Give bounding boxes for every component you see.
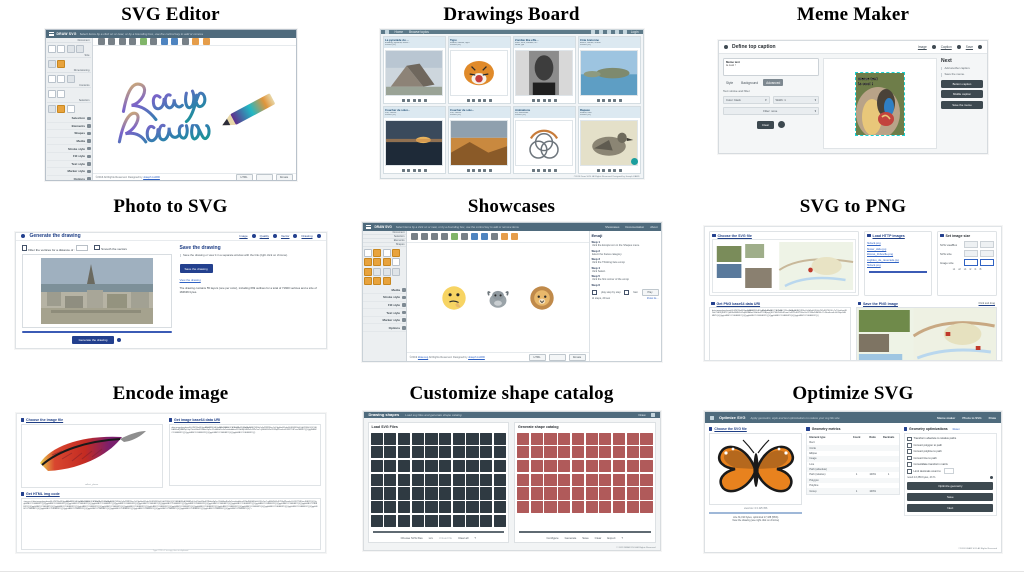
menu-item-media[interactable]: Media bbox=[47, 138, 91, 146]
shape-icon[interactable] bbox=[494, 446, 506, 458]
pts-steps[interactable]: Image Quality Vector Drawing bbox=[239, 234, 320, 238]
optimization-options[interactable]: Transform absolute to relative paths Con… bbox=[904, 433, 997, 516]
step-caption[interactable]: Caption bbox=[941, 45, 952, 49]
shape-icon[interactable] bbox=[392, 249, 400, 257]
editor-menu[interactable]: Selection Elements Shapes Media Stroke s… bbox=[47, 114, 91, 181]
shape-icon[interactable] bbox=[364, 249, 372, 257]
tab-advanced[interactable]: Advanced bbox=[763, 79, 783, 86]
more-icon[interactable] bbox=[489, 99, 492, 102]
list-icon[interactable] bbox=[607, 30, 611, 34]
view-icon[interactable] bbox=[402, 169, 405, 172]
editor-sidebar[interactable]: Document Size Dimensioning bbox=[46, 38, 93, 180]
card-actions[interactable] bbox=[449, 97, 510, 103]
shape-icon[interactable] bbox=[480, 433, 492, 445]
shape-icon[interactable] bbox=[384, 474, 396, 486]
style-tabs[interactable]: Style Background Advanced bbox=[723, 79, 819, 86]
step-quality[interactable]: Quality bbox=[260, 234, 269, 238]
shape-icon[interactable] bbox=[453, 433, 465, 445]
grid-icon[interactable] bbox=[615, 30, 619, 34]
shape-icon[interactable] bbox=[531, 446, 543, 458]
menu-item-shapes[interactable]: Shapes bbox=[47, 130, 91, 138]
shape-icon[interactable] bbox=[572, 487, 584, 499]
color-select[interactable]: Color: black▾ bbox=[723, 96, 770, 104]
shape-icon[interactable] bbox=[640, 487, 652, 499]
unit-x1[interactable]: x1 bbox=[953, 268, 956, 271]
shape-icon[interactable] bbox=[466, 515, 478, 527]
menu-item-stroke-style[interactable]: Stroke style bbox=[47, 145, 91, 153]
like-icon[interactable] bbox=[472, 169, 475, 172]
transform-icon[interactable] bbox=[171, 38, 178, 45]
showcase-nav[interactable]: Showcases Documentation About bbox=[605, 225, 657, 229]
shape-icon[interactable] bbox=[586, 487, 598, 499]
nav-documentation[interactable]: Documentation bbox=[625, 225, 644, 229]
author-link[interactable]: Joseph LIARD bbox=[143, 176, 160, 179]
shape-icon[interactable] bbox=[453, 515, 465, 527]
like-icon[interactable] bbox=[537, 99, 540, 102]
shape-icon[interactable] bbox=[398, 446, 410, 458]
checkbox-icon[interactable] bbox=[592, 290, 597, 295]
shape-icon[interactable] bbox=[480, 487, 492, 499]
zoom-in-icon[interactable] bbox=[119, 38, 126, 45]
shape-icon[interactable] bbox=[558, 474, 570, 486]
unit-x4[interactable]: x4 bbox=[964, 268, 967, 271]
shape-icon[interactable] bbox=[453, 460, 465, 472]
shape-icon[interactable] bbox=[599, 487, 611, 499]
svg-editor-window[interactable]: DRAW SVG Select items by a click on or n… bbox=[45, 29, 297, 181]
shape-icon[interactable] bbox=[384, 487, 396, 499]
step-save[interactable]: Save bbox=[966, 45, 973, 49]
new-doc-icon[interactable] bbox=[48, 45, 56, 53]
choose-files-button[interactable]: Choose SVG files bbox=[401, 536, 423, 540]
middle-caption-button[interactable]: Middle caption bbox=[941, 90, 983, 98]
step-image[interactable]: Image bbox=[239, 234, 247, 238]
donate-button[interactable]: Donate bbox=[276, 174, 293, 181]
svg-to-png-window[interactable]: Choose the SVG file bbox=[704, 226, 1002, 361]
editor-toolbar[interactable] bbox=[93, 38, 296, 46]
html-button[interactable]: HTML bbox=[236, 174, 253, 181]
shape-icon[interactable] bbox=[544, 446, 556, 458]
shape-icon[interactable] bbox=[384, 460, 396, 472]
orientation-icon[interactable] bbox=[57, 60, 65, 68]
share-icon[interactable] bbox=[613, 169, 616, 172]
shape-icon[interactable] bbox=[531, 460, 543, 472]
comment-icon[interactable] bbox=[608, 169, 611, 172]
shape-icon[interactable] bbox=[392, 268, 400, 276]
shape-icon[interactable] bbox=[599, 446, 611, 458]
shape-icon[interactable] bbox=[627, 433, 639, 445]
node-icon[interactable] bbox=[182, 38, 189, 45]
checkbox-icon[interactable] bbox=[907, 462, 912, 467]
shape-icon[interactable] bbox=[453, 501, 465, 513]
shape-icon[interactable] bbox=[613, 433, 625, 445]
shape-icon[interactable] bbox=[572, 460, 584, 472]
shape-icon[interactable] bbox=[586, 446, 598, 458]
option-transform-absolute[interactable]: Transform absolute to relative paths bbox=[907, 437, 993, 442]
footer-buttons[interactable]: HTML Donate bbox=[236, 174, 293, 181]
option-convert-line[interactable]: Convert line to path bbox=[907, 456, 993, 461]
shape-icon[interactable] bbox=[398, 433, 410, 445]
unit-x2[interactable]: x2 bbox=[958, 268, 961, 271]
card-actions[interactable] bbox=[449, 167, 510, 173]
share-icon[interactable] bbox=[548, 169, 551, 172]
like-icon[interactable] bbox=[602, 99, 605, 102]
tab-style[interactable]: Style bbox=[723, 79, 736, 86]
shape-icon[interactable] bbox=[425, 487, 437, 499]
generated-shape-grid[interactable] bbox=[515, 431, 655, 529]
shape-icon[interactable] bbox=[373, 249, 381, 257]
nav-about[interactable]: About bbox=[650, 225, 657, 229]
option-convert-polyline[interactable]: Convert polyline to path bbox=[907, 449, 993, 454]
sidebar-icons-contents[interactable] bbox=[47, 88, 91, 99]
share-icon[interactable] bbox=[483, 169, 486, 172]
more-icon[interactable] bbox=[424, 169, 427, 172]
more-icon[interactable] bbox=[619, 169, 622, 172]
html-code-textarea[interactable]: <img src="data:image/png;base64,iVBORw0K… bbox=[21, 498, 321, 550]
close-icon[interactable] bbox=[441, 233, 448, 240]
showcase-toolbar[interactable] bbox=[407, 231, 589, 243]
shape-icon[interactable] bbox=[439, 474, 451, 486]
svg-h-input[interactable] bbox=[980, 250, 994, 257]
shape-icon[interactable] bbox=[412, 487, 424, 499]
view-icon[interactable] bbox=[532, 99, 535, 102]
size-row-viewbox[interactable]: SVG viewBox bbox=[940, 241, 994, 248]
distance-input[interactable] bbox=[76, 245, 88, 251]
svg-preview[interactable] bbox=[712, 239, 856, 293]
shape-icon[interactable] bbox=[398, 460, 410, 472]
sidebar-icons-size[interactable] bbox=[47, 58, 91, 69]
shape-icon[interactable] bbox=[613, 487, 625, 499]
shape-icon[interactable] bbox=[613, 474, 625, 486]
shape-icon[interactable] bbox=[517, 474, 529, 486]
smooth-option[interactable]: Smooth the vectors bbox=[94, 245, 127, 251]
shape-icon[interactable] bbox=[439, 460, 451, 472]
shape-icon[interactable] bbox=[586, 433, 598, 445]
move-icon[interactable] bbox=[161, 38, 168, 45]
card-thumbnail[interactable] bbox=[515, 50, 573, 96]
shape-icon[interactable] bbox=[371, 487, 383, 499]
more-icon[interactable] bbox=[554, 99, 557, 102]
menu-item-media[interactable]: Media bbox=[363, 287, 406, 295]
print-doc-icon[interactable] bbox=[76, 45, 84, 53]
menu-item-marker-style[interactable]: Marker style bbox=[47, 168, 91, 176]
svg-w-input[interactable] bbox=[964, 250, 978, 257]
like-icon[interactable] bbox=[407, 169, 410, 172]
share-icon[interactable] bbox=[613, 99, 616, 102]
shape-icon[interactable] bbox=[373, 258, 381, 266]
option-consolidate-transform[interactable]: Consolidate transform matrix bbox=[907, 462, 993, 467]
card-item[interactable]: Animations art, animation French (Fr) bbox=[513, 106, 576, 174]
option-limit-decimals[interactable]: Limit decimals count to bbox=[907, 468, 993, 474]
dots-icon[interactable] bbox=[67, 75, 75, 83]
reset-link[interactable]: Reset bbox=[953, 428, 960, 431]
shape-icon[interactable] bbox=[627, 446, 639, 458]
generate-actions[interactable]: Configure Generate Save Clear Export ? bbox=[515, 535, 655, 542]
share-icon[interactable] bbox=[548, 99, 551, 102]
menu-item-text-style[interactable]: Text style bbox=[363, 309, 406, 317]
view-icon[interactable] bbox=[467, 169, 470, 172]
configure-button[interactable]: Configure bbox=[546, 536, 558, 540]
shape-icon[interactable] bbox=[480, 446, 492, 458]
like-icon[interactable] bbox=[407, 99, 410, 102]
fill-icon[interactable] bbox=[57, 105, 65, 113]
nav-meme-maker[interactable]: Meme maker bbox=[937, 416, 955, 420]
undo-icon[interactable] bbox=[501, 233, 508, 240]
shape-icon[interactable] bbox=[371, 515, 383, 527]
card-item[interactable]: Tigre animal, animal, tiger French (Fr) bbox=[448, 36, 511, 104]
checkbox-icon[interactable] bbox=[907, 456, 912, 461]
shape-icon[interactable] bbox=[544, 487, 556, 499]
card-thumbnail[interactable] bbox=[580, 50, 638, 96]
mail-button[interactable] bbox=[256, 174, 273, 181]
redo-icon[interactable] bbox=[511, 233, 518, 240]
card-item[interactable]: Coucher de sole... sun, sunset French (F… bbox=[448, 106, 511, 174]
shape-icon[interactable] bbox=[364, 277, 372, 285]
shape-icon[interactable] bbox=[439, 487, 451, 499]
export-button[interactable]: Export bbox=[607, 536, 615, 540]
nav-photo-to-svg[interactable]: Photo to SVG bbox=[962, 416, 981, 420]
help-fab-button[interactable] bbox=[631, 158, 638, 165]
checkbox-icon[interactable] bbox=[907, 437, 912, 442]
shape-icon[interactable] bbox=[373, 277, 381, 285]
image-h-input[interactable] bbox=[980, 259, 994, 266]
shape-icon[interactable] bbox=[384, 446, 396, 458]
menu-item-text-style[interactable]: Text style bbox=[47, 161, 91, 169]
shape-icon[interactable] bbox=[398, 487, 410, 499]
shape-icon[interactable] bbox=[531, 474, 543, 486]
shape-icon[interactable] bbox=[453, 487, 465, 499]
set-size-card[interactable]: Set image size SVG viewBox SVG size Imag… bbox=[937, 231, 997, 296]
showcase-sidebar[interactable]: Document Selection Elements Shapes Media bbox=[363, 231, 407, 361]
shape-icon[interactable] bbox=[494, 515, 506, 527]
shape-icon[interactable] bbox=[558, 446, 570, 458]
shape-icon[interactable] bbox=[544, 474, 556, 486]
size-row-svgsize[interactable]: SVG size bbox=[940, 250, 994, 257]
shape-icon[interactable] bbox=[364, 258, 372, 266]
shape-icon[interactable] bbox=[383, 277, 391, 285]
share-icon[interactable] bbox=[418, 99, 421, 102]
shape-catalog-window[interactable]: Drawing shapes Load svg files and genera… bbox=[363, 411, 661, 551]
load-actions[interactable]: Choose SVG files xxx Unload file Clear a… bbox=[369, 535, 509, 542]
fit-icon[interactable] bbox=[411, 233, 418, 240]
shape-icon[interactable] bbox=[466, 474, 478, 486]
card-item[interactable]: Côte bretonne beach, nature, ocean Frenc… bbox=[578, 36, 641, 104]
shape-icon[interactable] bbox=[412, 460, 424, 472]
shape-icon[interactable] bbox=[640, 460, 652, 472]
card-thumbnail[interactable] bbox=[450, 50, 508, 96]
snap-icon[interactable] bbox=[57, 75, 65, 83]
shape-icon[interactable] bbox=[627, 460, 639, 472]
sidebar-icons-grid[interactable] bbox=[47, 73, 91, 84]
shape-icon[interactable] bbox=[425, 474, 437, 486]
clear-button[interactable]: Clear bbox=[595, 536, 602, 540]
play-controls[interactable]: play step by step fast Play bbox=[592, 289, 659, 296]
card-thumbnail[interactable] bbox=[450, 120, 508, 166]
shape-icon[interactable] bbox=[480, 501, 492, 513]
card-actions[interactable] bbox=[384, 167, 445, 173]
stroke-icon[interactable] bbox=[67, 105, 75, 113]
shape-icon[interactable] bbox=[517, 487, 529, 499]
shape-icon[interactable] bbox=[627, 487, 639, 499]
comment-icon[interactable] bbox=[543, 99, 546, 102]
card-thumbnail[interactable] bbox=[580, 120, 638, 166]
optimize-svg-window[interactable]: Optimize SVG Apply geometric, style and … bbox=[704, 411, 1002, 553]
size-fields[interactable]: SVG viewBox SVG size Image size x1 x2 x4… bbox=[938, 239, 996, 273]
card-thumbnail[interactable] bbox=[385, 50, 443, 96]
shape-icon[interactable] bbox=[371, 460, 383, 472]
image-preview[interactable]: collect_plume bbox=[21, 424, 163, 488]
footer-buttons[interactable]: HTML Donate bbox=[529, 354, 586, 361]
generate-row[interactable]: Generate the drawing bbox=[22, 336, 172, 344]
page-size-icon[interactable] bbox=[48, 60, 56, 68]
view-icon[interactable] bbox=[597, 99, 600, 102]
sidebar-icons-document[interactable] bbox=[47, 43, 91, 54]
shape-icon[interactable] bbox=[439, 515, 451, 527]
shape-icon[interactable] bbox=[425, 460, 437, 472]
menu-item-selection[interactable]: Selection bbox=[47, 115, 91, 123]
shape-palette[interactable] bbox=[363, 247, 406, 287]
shape-icon[interactable] bbox=[412, 433, 424, 445]
shape-icon[interactable] bbox=[412, 515, 424, 527]
menu-icon[interactable] bbox=[366, 225, 371, 229]
generate-button[interactable]: Generate bbox=[565, 536, 577, 540]
shape-icon[interactable] bbox=[384, 515, 396, 527]
card-item[interactable]: Coucher de solei... sun, sunset French (… bbox=[383, 106, 446, 174]
shape-icon[interactable] bbox=[480, 515, 492, 527]
width-select[interactable]: Width: 1▾ bbox=[773, 96, 820, 104]
save-button[interactable]: Save bbox=[582, 536, 588, 540]
shape-icon[interactable] bbox=[466, 460, 478, 472]
open-doc-icon[interactable] bbox=[57, 45, 65, 53]
redo-icon[interactable] bbox=[203, 38, 210, 45]
shape-icon[interactable] bbox=[466, 446, 478, 458]
menu-item-fill-style[interactable]: Fill style bbox=[47, 153, 91, 161]
filter-option[interactable]: Filter the vertices for a distance of : bbox=[22, 245, 89, 252]
zoom-out-icon[interactable] bbox=[421, 233, 428, 240]
shape-icon[interactable] bbox=[544, 460, 556, 472]
shape-icon[interactable] bbox=[412, 446, 424, 458]
shape-icon[interactable] bbox=[371, 501, 383, 513]
option-convert-polygon[interactable]: Convert polygon to path bbox=[907, 443, 993, 448]
node-icon[interactable] bbox=[491, 233, 498, 240]
shape-icon[interactable] bbox=[392, 258, 400, 266]
shape-icon[interactable] bbox=[425, 446, 437, 458]
meme-maker-window[interactable]: Define top caption Image Caption Save Me… bbox=[718, 40, 988, 154]
html-button[interactable]: HTML bbox=[529, 354, 546, 361]
comment-icon[interactable] bbox=[413, 99, 416, 102]
http-link[interactable]: htdock.png bbox=[867, 263, 929, 267]
meme-buttons[interactable]: Clear bbox=[723, 121, 819, 129]
shape-icon[interactable] bbox=[384, 433, 396, 445]
shape-icon[interactable] bbox=[373, 268, 381, 276]
card-thumbnail[interactable] bbox=[385, 120, 443, 166]
http-link[interactable]: flower_slide.jpg bbox=[867, 247, 929, 251]
hand-icon[interactable] bbox=[461, 233, 468, 240]
loaded-shape-grid[interactable] bbox=[369, 431, 509, 529]
shape-icon[interactable] bbox=[398, 515, 410, 527]
viewbox-h-input[interactable] bbox=[980, 241, 994, 248]
shape-icon[interactable] bbox=[586, 501, 598, 513]
shape-icon[interactable] bbox=[572, 474, 584, 486]
http-link[interactable]: kltoras_11beville.png bbox=[867, 252, 929, 256]
checkbox-icon[interactable] bbox=[22, 245, 27, 250]
view-drawing-link[interactable]: View the drawing bbox=[180, 278, 320, 282]
shape-icon[interactable] bbox=[640, 433, 652, 445]
move-icon[interactable] bbox=[471, 233, 478, 240]
more-icon[interactable] bbox=[489, 169, 492, 172]
generate-scrollbar[interactable] bbox=[519, 531, 651, 533]
shape-icon[interactable] bbox=[627, 501, 639, 513]
shape-icon[interactable] bbox=[640, 501, 652, 513]
load-http-card[interactable]: Load HTTP images htdock.png flower_slide… bbox=[864, 231, 932, 296]
shape-icon[interactable] bbox=[613, 460, 625, 472]
show-link[interactable]: Show its... bbox=[647, 297, 659, 300]
shape-icon[interactable] bbox=[599, 433, 611, 445]
filter-select[interactable]: Filter: none▾ bbox=[723, 107, 819, 115]
shape-icon[interactable] bbox=[398, 474, 410, 486]
comment-icon[interactable] bbox=[478, 169, 481, 172]
save-doc-icon[interactable] bbox=[67, 45, 75, 53]
select-rect-icon[interactable] bbox=[140, 38, 147, 45]
bottom-caption-button[interactable]: Bottom caption bbox=[941, 80, 983, 88]
like-icon[interactable] bbox=[537, 169, 540, 172]
menu-icon[interactable] bbox=[385, 30, 389, 34]
card-item[interactable]: Zombie like effe... artist, face, zombie… bbox=[513, 36, 576, 104]
shape-icon[interactable] bbox=[544, 433, 556, 445]
decimals-input[interactable] bbox=[944, 468, 954, 474]
menu-item-options[interactable]: Options bbox=[363, 324, 406, 332]
zoom-out-icon[interactable] bbox=[108, 38, 115, 45]
table-row[interactable]: Group1100% bbox=[807, 488, 898, 493]
menu-icon[interactable] bbox=[49, 32, 54, 36]
play-button[interactable]: Play bbox=[642, 289, 659, 296]
shape-icon[interactable] bbox=[384, 501, 396, 513]
card-actions[interactable] bbox=[579, 167, 640, 173]
card-actions[interactable] bbox=[384, 97, 445, 103]
save-drawing-button[interactable]: Save the drawing bbox=[180, 264, 213, 273]
shape-icon[interactable] bbox=[640, 474, 652, 486]
select-icon[interactable] bbox=[48, 105, 56, 113]
transform-icon[interactable] bbox=[481, 233, 488, 240]
tab-background[interactable]: Background bbox=[738, 79, 761, 86]
shape-icon[interactable] bbox=[364, 268, 372, 276]
share-icon[interactable] bbox=[483, 99, 486, 102]
card-actions[interactable] bbox=[579, 97, 640, 103]
shape-icon[interactable] bbox=[586, 460, 598, 472]
shape-icon[interactable] bbox=[398, 501, 410, 513]
shape-icon[interactable] bbox=[371, 433, 383, 445]
card-thumbnail[interactable] bbox=[515, 120, 573, 166]
comment-icon[interactable] bbox=[478, 99, 481, 102]
view-icon[interactable] bbox=[402, 99, 405, 102]
meme-steps[interactable]: Image Caption Save bbox=[918, 45, 982, 49]
shape-icon[interactable] bbox=[640, 446, 652, 458]
shape-icon[interactable] bbox=[466, 433, 478, 445]
unit-half[interactable]: /2 bbox=[969, 268, 971, 271]
author-link[interactable]: Joseph LIARD bbox=[468, 356, 485, 359]
help-icon[interactable] bbox=[778, 121, 785, 128]
checkbox-icon[interactable] bbox=[907, 469, 912, 474]
mail-button[interactable] bbox=[549, 354, 566, 361]
showcases-window[interactable]: DRAW SVG Select items by a click on or n… bbox=[362, 222, 662, 362]
shape-icon[interactable] bbox=[412, 501, 424, 513]
unit-eighth[interactable]: /8 bbox=[979, 268, 981, 271]
shape-icon[interactable] bbox=[425, 433, 437, 445]
showcase-canvas[interactable] bbox=[407, 243, 589, 352]
shape-icon[interactable] bbox=[412, 474, 424, 486]
user-icon[interactable] bbox=[623, 30, 627, 34]
b64-textarea[interactable]: data:image/png;base64,iVBORw0KGgoAAAANSU… bbox=[169, 424, 321, 486]
menu-item-options[interactable]: Options bbox=[47, 176, 91, 181]
